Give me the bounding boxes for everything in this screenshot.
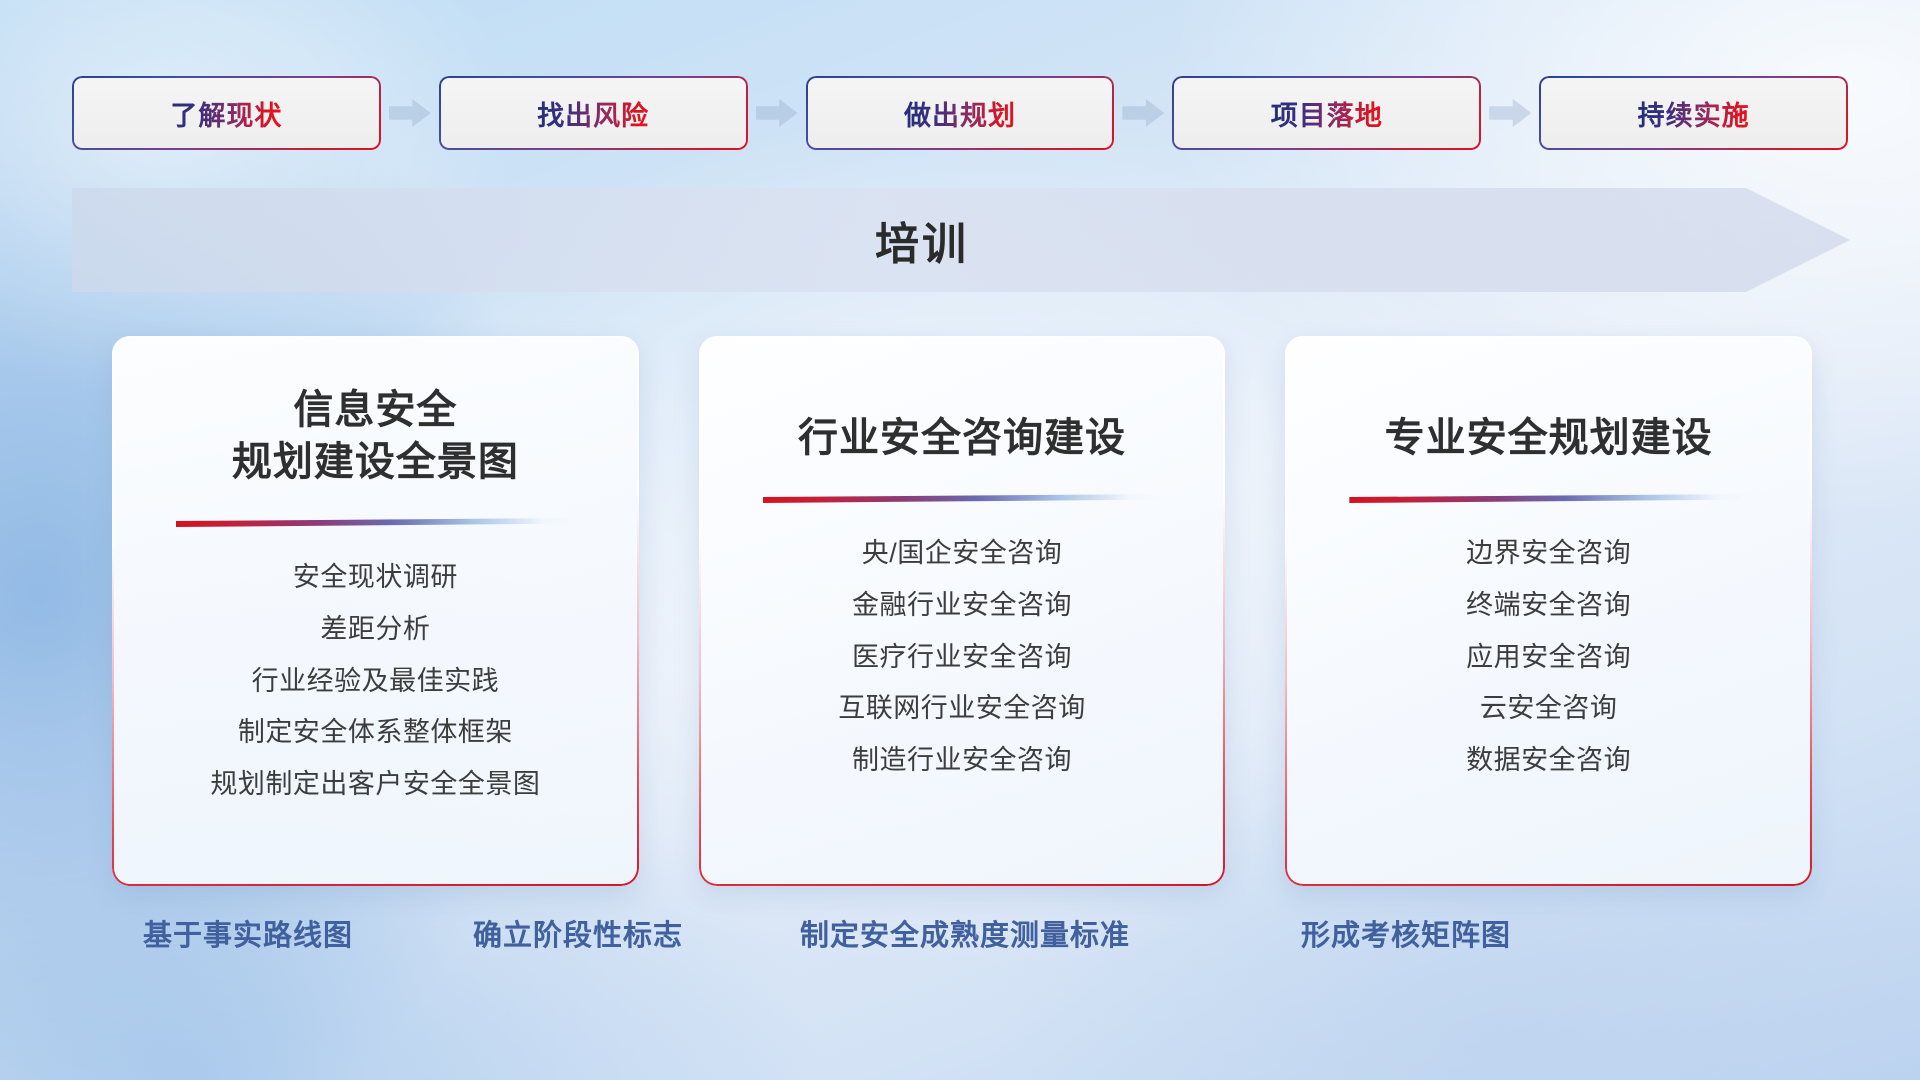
step-label-5: 持续实施: [1638, 94, 1750, 133]
list-item: 互联网行业安全咨询: [838, 690, 1086, 728]
training-banner: 培训: [72, 188, 1850, 292]
step-label-3: 做出规划: [904, 94, 1016, 133]
list-item: 医疗行业安全咨询: [852, 639, 1072, 677]
card-row: 信息安全 规划建设全景图 安全现状调研 差距分析 行业经验及最佳实践 制定安全体…: [112, 336, 1812, 886]
caption-2: 确立阶段性标志: [473, 912, 683, 954]
list-item: 安全现状调研: [293, 559, 458, 597]
step-box-5[interactable]: 持续实施: [1539, 76, 1848, 150]
card-item-list: 边界安全咨询 终端安全咨询 应用安全咨询 云安全咨询 数据安全咨询: [1311, 535, 1786, 780]
step-arrow-icon-4: [1481, 93, 1539, 133]
card-item-list: 安全现状调研 差距分析 行业经验及最佳实践 制定安全体系整体框架 规划制定出客户…: [138, 559, 613, 804]
list-item: 终端安全咨询: [1466, 587, 1631, 625]
step-label-4: 项目落地: [1271, 94, 1383, 133]
card-information-security-blueprint[interactable]: 信息安全 规划建设全景图 安全现状调研 差距分析 行业经验及最佳实践 制定安全体…: [112, 336, 639, 886]
caption-row: 基于事实路线图 确立阶段性标志 制定安全成熟度测量标准 形成考核矩阵图: [0, 912, 1920, 972]
list-item: 边界安全咨询: [1466, 535, 1631, 573]
card-title: 行业安全咨询建设: [798, 412, 1126, 464]
caption-3: 制定安全成熟度测量标准: [800, 912, 1130, 954]
card-divider: [176, 518, 575, 527]
list-item: 行业经验及最佳实践: [252, 663, 500, 701]
card-divider: [763, 494, 1162, 503]
list-item: 数据安全咨询: [1466, 742, 1631, 780]
list-item: 差距分析: [320, 611, 430, 649]
card-professional-security-planning[interactable]: 专业安全规划建设 边界安全咨询 终端安全咨询 应用安全咨询 云安全咨询 数据安全…: [1285, 336, 1812, 886]
card-divider: [1349, 494, 1748, 503]
slide-canvas: 了解现状 找出风险 做出规划 项目落地 持续实施 培训 信息安全 规划建设全景图…: [0, 0, 1920, 1080]
process-step-row: 了解现状 找出风险 做出规划 项目落地 持续实施: [72, 76, 1848, 150]
list-item: 应用安全咨询: [1466, 639, 1631, 677]
card-industry-security-consulting[interactable]: 行业安全咨询建设 央/国企安全咨询 金融行业安全咨询 医疗行业安全咨询 互联网行…: [699, 336, 1226, 886]
step-box-1[interactable]: 了解现状: [72, 76, 381, 150]
list-item: 央/国企安全咨询: [862, 535, 1063, 573]
step-label-1: 了解现状: [170, 94, 282, 133]
step-arrow-icon-3: [1114, 93, 1172, 133]
card-title: 专业安全规划建设: [1385, 412, 1713, 464]
caption-1: 基于事实路线图: [143, 912, 353, 954]
step-box-2[interactable]: 找出风险: [439, 76, 748, 150]
caption-4: 形成考核矩阵图: [1301, 912, 1511, 954]
step-arrow-icon-2: [748, 93, 806, 133]
list-item: 规划制定出客户安全全景图: [210, 766, 540, 804]
card-title: 信息安全 规划建设全景图: [232, 384, 519, 488]
step-box-4[interactable]: 项目落地: [1172, 76, 1481, 150]
step-arrow-icon-1: [381, 93, 439, 133]
step-box-3[interactable]: 做出规划: [806, 76, 1115, 150]
training-banner-title: 培训: [72, 188, 1772, 292]
step-label-2: 找出风险: [537, 94, 649, 133]
list-item: 制造行业安全咨询: [852, 742, 1072, 780]
list-item: 金融行业安全咨询: [852, 587, 1072, 625]
card-item-list: 央/国企安全咨询 金融行业安全咨询 医疗行业安全咨询 互联网行业安全咨询 制造行…: [725, 535, 1200, 780]
list-item: 制定安全体系整体框架: [238, 714, 513, 752]
list-item: 云安全咨询: [1480, 690, 1618, 728]
